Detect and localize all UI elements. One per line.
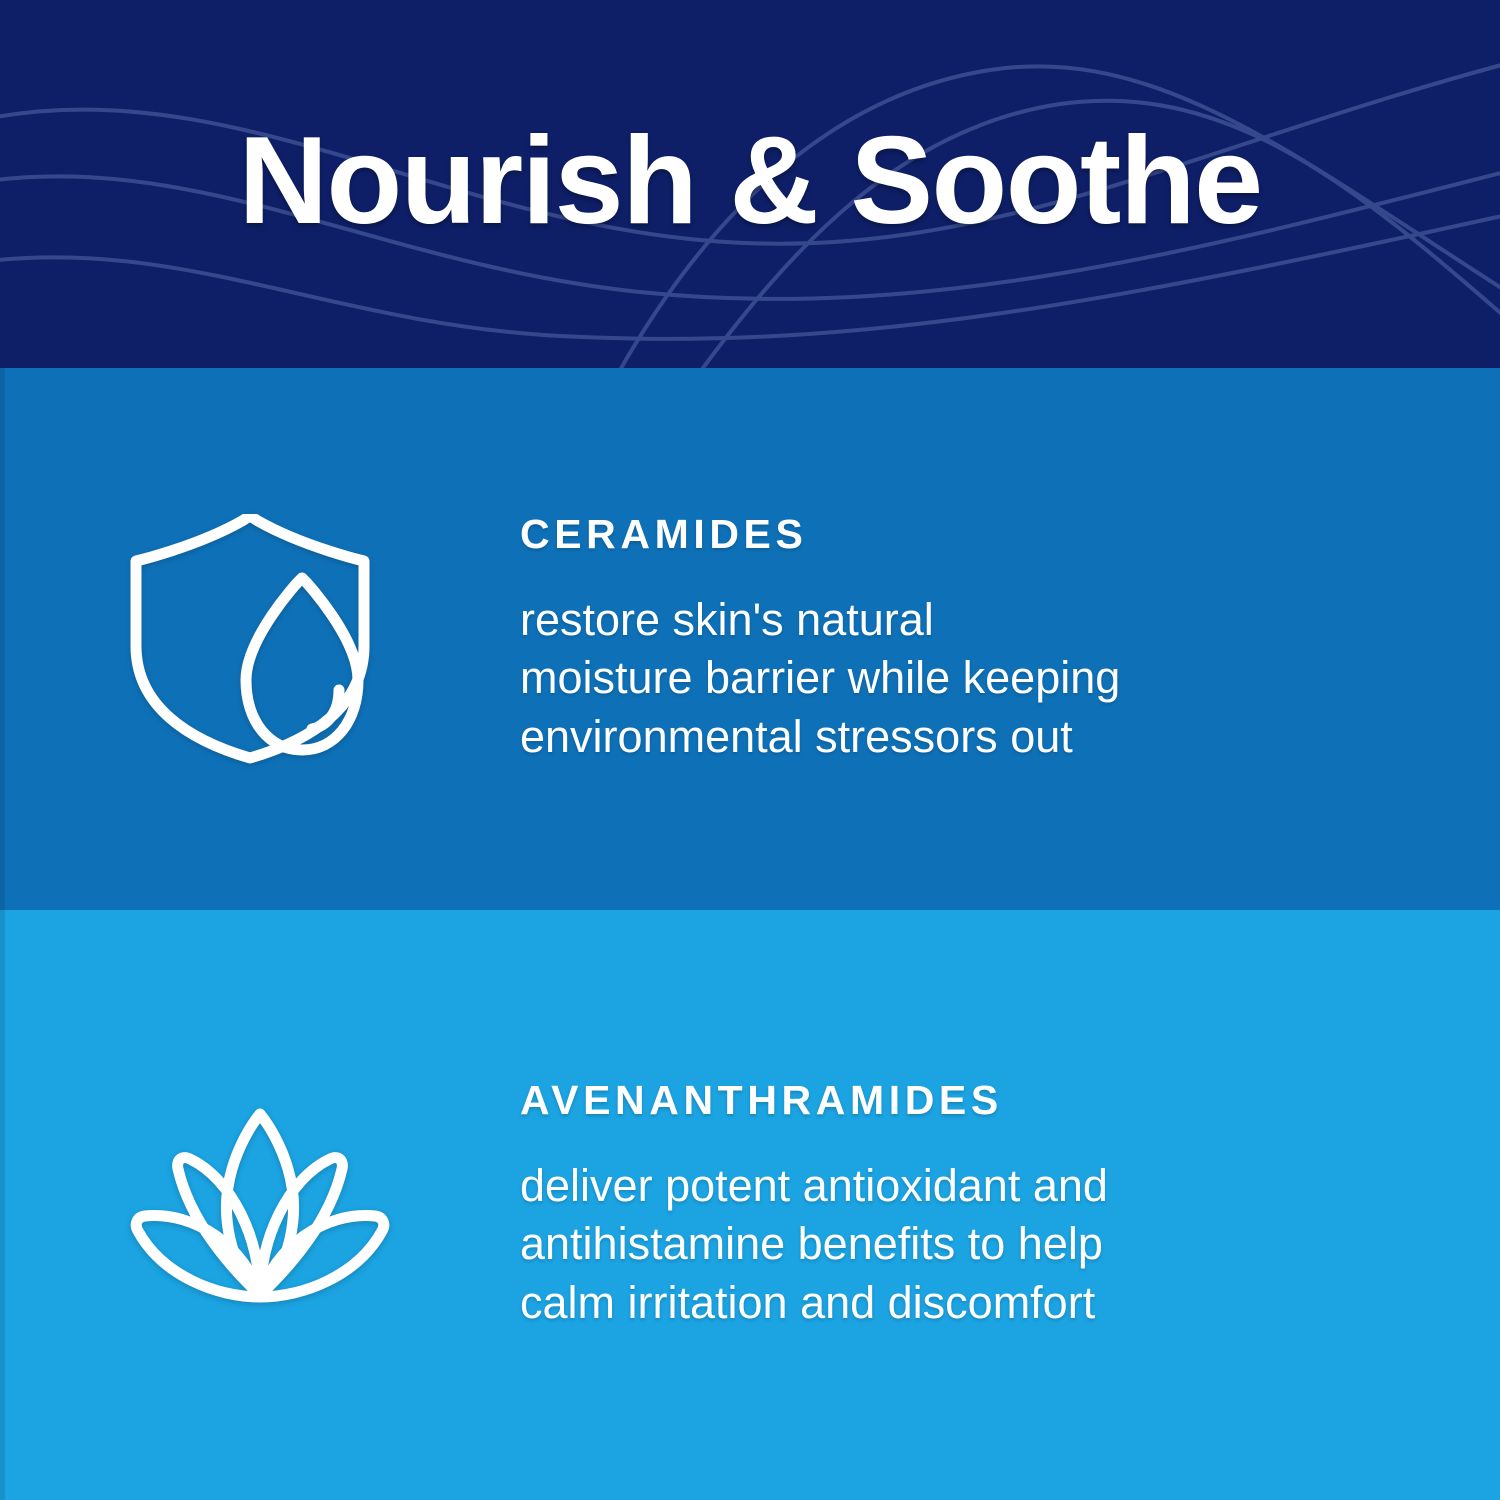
- page-title: Nourish & Soothe: [0, 0, 1500, 368]
- shield-droplet-icon: [126, 514, 394, 764]
- section-ceramides: CERAMIDES restore skin's natural moistur…: [0, 368, 1500, 910]
- avenanthramides-description-line: deliver potent antioxidant and: [520, 1157, 1310, 1216]
- ceramides-text-container: CERAMIDES restore skin's natural moistur…: [520, 512, 1500, 767]
- ceramides-heading: CERAMIDES: [520, 512, 1380, 557]
- ceramides-description: restore skin's natural moisture barrier …: [520, 591, 1310, 767]
- section-avenanthramides: AVENANTHRAMIDES deliver potent antioxida…: [0, 910, 1500, 1500]
- ceramides-description-line: restore skin's natural: [520, 591, 1310, 650]
- ceramides-description-line: environmental stressors out: [520, 708, 1310, 767]
- avenanthramides-description: deliver potent antioxidant and antihista…: [520, 1157, 1310, 1333]
- avenanthramides-description-line: calm irritation and discomfort: [520, 1274, 1310, 1333]
- avenanthramides-text-container: AVENANTHRAMIDES deliver potent antioxida…: [520, 1078, 1500, 1333]
- header-banner: Nourish & Soothe: [0, 0, 1500, 368]
- ceramides-description-line: moisture barrier while keeping: [520, 649, 1310, 708]
- avenanthramides-heading: AVENANTHRAMIDES: [520, 1078, 1380, 1123]
- ceramides-icon-container: [0, 514, 520, 764]
- avenanthramides-icon-container: [0, 1107, 520, 1303]
- product-benefits-infographic: Nourish & Soothe CERAMIDES restore skin'…: [0, 0, 1500, 1500]
- avenanthramides-description-line: antihistamine benefits to help: [520, 1215, 1310, 1274]
- lotus-flower-icon: [120, 1107, 400, 1303]
